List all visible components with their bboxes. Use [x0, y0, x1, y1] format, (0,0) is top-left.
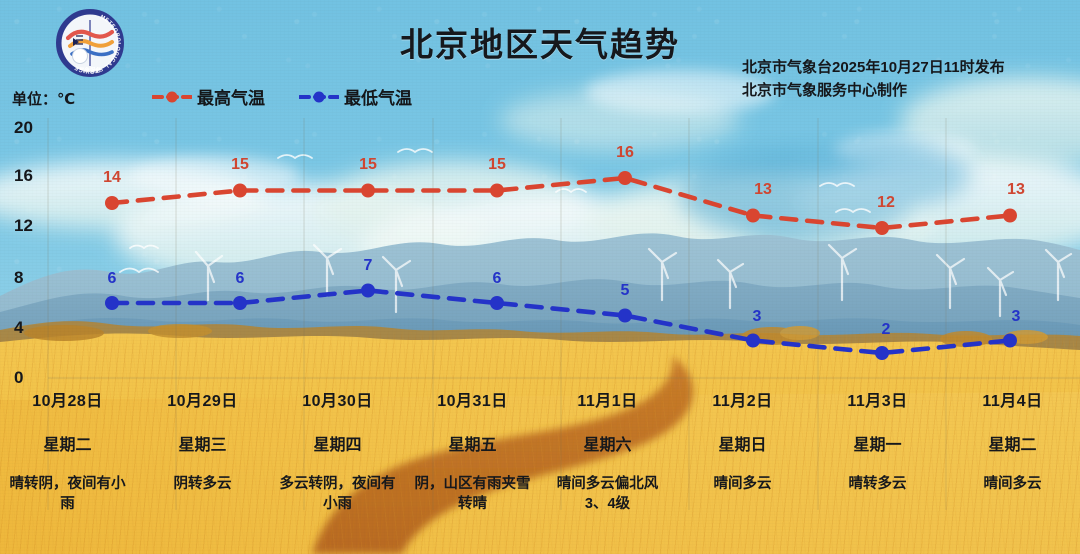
forecast-date: 11月1日	[540, 387, 675, 411]
forecast-weekday: 星期日	[675, 431, 810, 455]
y-axis-tick: 16	[14, 166, 52, 186]
forecast-date: 11月2日	[675, 387, 810, 411]
forecast-day-column: 10月30日 星期四 多云转阴，夜间有小雨	[270, 385, 405, 515]
forecast-condition: 阴，山区有雨夹雪转晴	[405, 475, 540, 514]
forecast-date: 10月30日	[270, 387, 405, 411]
min-temp-value: 3	[1012, 308, 1021, 326]
forecast-condition: 晴转多云	[810, 475, 945, 495]
max-temp-value: 15	[231, 156, 249, 174]
forecast-date: 11月4日	[945, 387, 1080, 411]
y-axis-tick: 12	[14, 216, 52, 236]
forecast-date: 10月31日	[405, 387, 540, 411]
legend-item-min-temp: 最低气温	[299, 84, 412, 109]
forecast-condition: 晴间多云偏北风3、4级	[540, 475, 675, 514]
min-temp-value: 2	[882, 321, 891, 339]
logo-inner-text: 气象服务	[78, 66, 101, 74]
legend-item-max-temp: 最高气温	[152, 84, 265, 109]
max-temp-value: 15	[359, 156, 377, 174]
forecast-day-column: 10月28日 星期二 晴转阴，夜间有小雨	[0, 385, 135, 515]
chart-legend: 最高气温 最低气温	[152, 84, 412, 109]
forecast-day-column: 10月29日 星期三 阴转多云	[135, 385, 270, 515]
forecast-day-columns: 10月28日 星期二 晴转阴，夜间有小雨 10月29日 星期三 阴转多云 10月…	[0, 385, 1080, 515]
min-temp-value: 7	[364, 257, 373, 275]
forecast-condition: 晴间多云	[945, 475, 1080, 495]
forecast-weekday: 星期二	[0, 431, 135, 455]
y-axis-tick: 4	[14, 318, 52, 338]
forecast-day-column: 10月31日 星期五 阴，山区有雨夹雪转晴	[405, 385, 540, 515]
min-temp-value: 3	[753, 308, 762, 326]
max-temp-value: 13	[754, 181, 772, 199]
forecast-date: 11月3日	[810, 387, 945, 411]
forecast-date: 10月29日	[135, 387, 270, 411]
forecast-weekday: 星期一	[810, 431, 945, 455]
forecast-day-column: 11月2日 星期日 晴间多云	[675, 385, 810, 515]
max-temp-value: 12	[877, 194, 895, 212]
max-temp-value: 14	[103, 169, 121, 187]
forecast-weekday: 星期三	[135, 431, 270, 455]
forecast-condition: 晴转阴，夜间有小雨	[0, 475, 135, 514]
max-temp-value: 16	[616, 144, 634, 162]
unit-label: 单位：℃	[12, 88, 75, 109]
max-temp-value: 13	[1007, 181, 1025, 199]
min-temp-value: 6	[108, 270, 117, 288]
forecast-weekday: 星期二	[945, 431, 1080, 455]
legend-label-min-temp: 最低气温	[344, 84, 412, 109]
legend-max-swatch-icon	[152, 89, 192, 105]
forecast-day-column: 11月3日 星期一 晴转多云	[810, 385, 945, 515]
forecast-weekday: 星期五	[405, 431, 540, 455]
forecast-condition: 多云转阴，夜间有小雨	[270, 475, 405, 514]
issuer-info: 北京市气象台2025年10月27日11时发布 北京市气象服务中心制作	[742, 56, 1062, 103]
y-axis-tick: 20	[14, 118, 52, 138]
min-temp-value: 6	[493, 270, 502, 288]
issuer-line-2: 北京市气象服务中心制作	[742, 79, 1062, 102]
legend-label-max-temp: 最高气温	[197, 84, 265, 109]
forecast-condition: 阴转多云	[135, 475, 270, 495]
issuer-line-1: 北京市气象台2025年10月27日11时发布	[742, 56, 1062, 79]
min-temp-value: 5	[621, 282, 630, 300]
max-temp-value: 15	[488, 156, 506, 174]
forecast-day-column: 11月4日 星期二 晴间多云	[945, 385, 1080, 515]
forecast-weekday: 星期六	[540, 431, 675, 455]
forecast-day-column: 11月1日 星期六 晴间多云偏北风3、4级	[540, 385, 675, 515]
forecast-date: 10月28日	[0, 387, 135, 411]
legend-min-swatch-icon	[299, 89, 339, 105]
forecast-condition: 晴间多云	[675, 475, 810, 495]
weather-trend-infographic: 14 15 15 15 16 13 12 13 6 6 7 6 5 3 2 3 …	[0, 0, 1080, 554]
forecast-weekday: 星期四	[270, 431, 405, 455]
min-temp-value: 6	[236, 270, 245, 288]
y-axis-tick: 8	[14, 268, 52, 288]
